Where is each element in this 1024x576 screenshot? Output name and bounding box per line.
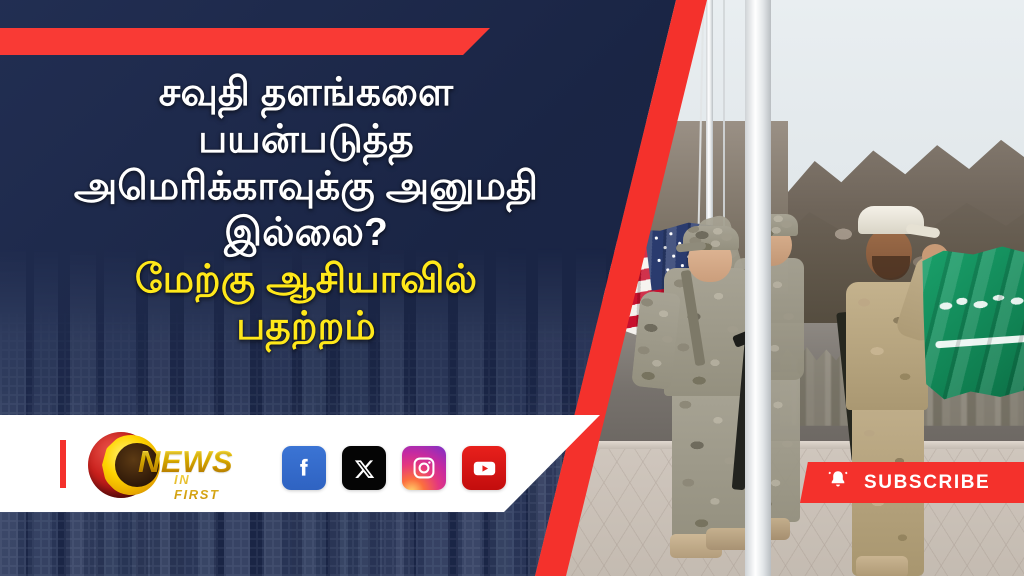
headline-line-5: மேற்கு ஆசியாவில் [0,257,612,304]
soldier-us-front-torso [664,268,752,396]
red-tick-marker [60,440,66,488]
top-red-accent-bar [0,28,490,55]
subscribe-label: SUBSCRIBE [864,472,990,494]
facebook-icon [291,455,317,481]
logo-tagline: IN FIRST [174,472,236,502]
headline-line-1: சவுதி தளங்களை [0,70,612,117]
instagram-icon [411,455,437,481]
x-twitter-icon [353,457,376,480]
saudi-arabia-flag [917,244,1024,402]
headline-text: சவுதி தளங்களை பயன்படுத்த அமெரிக்காவுக்கு… [0,70,612,351]
headline-line-3: அமெரிக்காவுக்கு அனுமதி [0,164,612,211]
headline-line-4: இல்லை? [0,210,612,257]
thumbnail-canvas: சவுதி தளங்களை பயன்படுத்த அமெரிக்காவுக்கு… [0,0,1024,576]
youtube-icon [471,455,498,482]
headline-line-2: பயன்படுத்த [0,117,612,164]
facebook-button[interactable] [282,446,326,490]
headline-line-6: பதற்றம் [0,304,612,351]
flag-folds [917,244,1024,402]
flagpole-main [745,0,771,576]
social-links [282,446,506,490]
channel-logo[interactable]: NEWS IN FIRST [88,428,236,500]
x-button[interactable] [342,446,386,490]
youtube-button[interactable] [462,446,506,490]
bell-icon [826,468,850,497]
instagram-button[interactable] [402,446,446,490]
subscribe-button[interactable]: SUBSCRIBE [800,462,1024,503]
soldier-saudi-boot [856,556,908,576]
